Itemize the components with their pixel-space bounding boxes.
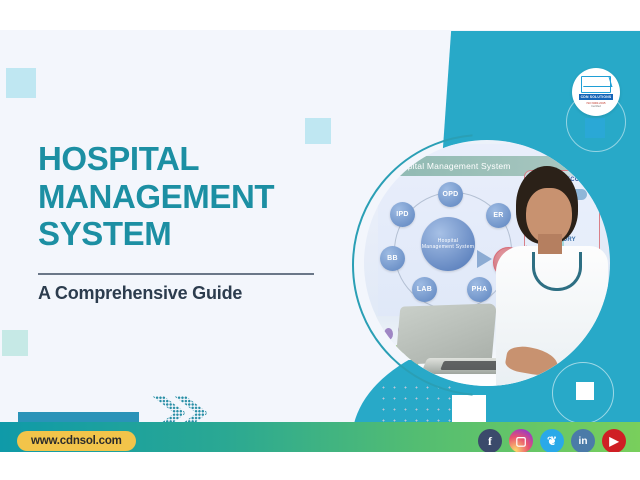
laptop-screen bbox=[395, 303, 496, 364]
title-divider bbox=[38, 273, 314, 275]
company-logo: CDN SOLUTIONS ISO 9001:2015 Certified bbox=[572, 68, 620, 116]
diagram-node-lab: LAB bbox=[412, 277, 437, 302]
diagram-node-opd: OPD bbox=[438, 182, 463, 207]
diagram-center-node: Hospital Management System bbox=[421, 217, 475, 271]
facebook-icon[interactable]: f bbox=[478, 429, 502, 452]
diagram-node-ipd: IPD bbox=[390, 202, 415, 227]
medical-plus-icon bbox=[585, 118, 605, 138]
title-line-1: HOSPITAL bbox=[38, 140, 274, 178]
youtube-icon[interactable]: ▶ bbox=[602, 429, 626, 452]
linkedin-icon[interactable]: in bbox=[571, 429, 595, 452]
diagram-node-bb: BB bbox=[380, 246, 405, 271]
hero-photo: Hospital Management System OPD IPD ER BB… bbox=[364, 140, 610, 386]
person-photo bbox=[492, 166, 610, 386]
social-links: f ▢ ❦ in ▶ bbox=[478, 429, 626, 452]
marketing-banner: Hospital Management System OPD IPD ER BB… bbox=[0, 30, 640, 452]
page-subtitle: A Comprehensive Guide bbox=[38, 283, 242, 304]
title-line-3: SYSTEM bbox=[38, 215, 274, 253]
plus-cross-icon bbox=[6, 68, 36, 98]
page-title: HOSPITAL MANAGEMENT SYSTEM bbox=[38, 140, 274, 253]
plus-cross-icon bbox=[2, 330, 28, 356]
instagram-icon[interactable]: ▢ bbox=[509, 429, 533, 452]
footer-bar: www.cdnsol.com f ▢ ❦ in ▶ bbox=[0, 422, 640, 452]
logo-certified-text: Certified bbox=[591, 105, 601, 108]
logo-brand-name: CDN SOLUTIONS bbox=[579, 94, 614, 100]
neck bbox=[538, 234, 562, 254]
plus-cross-icon bbox=[305, 118, 331, 144]
website-url[interactable]: www.cdnsol.com bbox=[17, 431, 136, 451]
twitter-icon[interactable]: ❦ bbox=[540, 429, 564, 452]
envelope-icon bbox=[581, 76, 611, 93]
diagram-node-pha: PHA bbox=[467, 277, 492, 302]
title-line-2: MANAGEMENT bbox=[38, 178, 274, 216]
diagram-arrow-icon bbox=[477, 250, 492, 268]
